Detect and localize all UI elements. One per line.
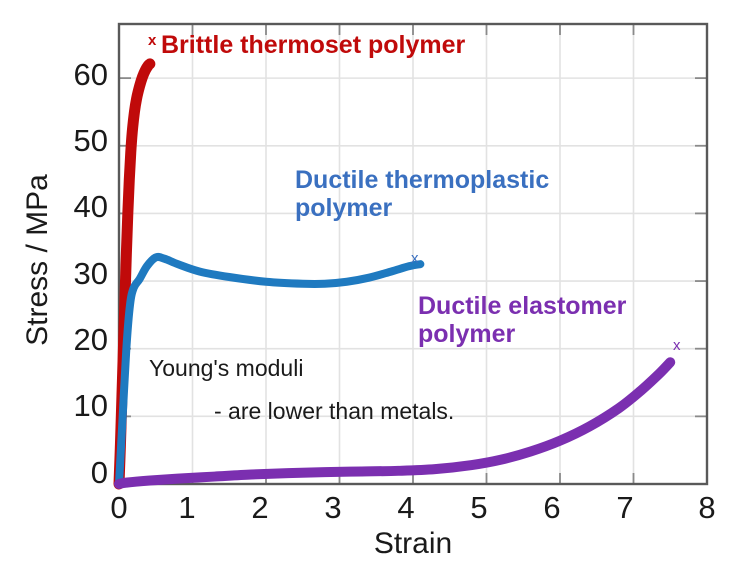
y-tick-label-40: 40 — [46, 191, 108, 222]
series-label-thermoplastic: Ductile thermoplastic polymer — [295, 166, 549, 223]
x-axis-title: Strain — [119, 527, 707, 561]
endpoint-marker-elastomer: x — [673, 338, 681, 353]
x-tick-label-1: 1 — [167, 492, 207, 523]
series-label-thermoset: Brittle thermoset polymer — [161, 31, 465, 59]
plot-svg — [0, 0, 753, 571]
series-label-elastomer: Ductile elastomer polymer — [418, 292, 626, 349]
x-tick-label-3: 3 — [313, 492, 353, 523]
y-tick-label-60: 60 — [46, 59, 108, 90]
y-axis-title: Stress / MPa — [21, 130, 55, 390]
endpoint-marker-thermoset: x — [148, 33, 156, 48]
x-tick-label-2: 2 — [240, 492, 280, 523]
x-tick-label-7: 7 — [605, 492, 645, 523]
x-tick-label-4: 4 — [386, 492, 426, 523]
y-tick-label-0: 0 — [46, 457, 108, 488]
x-tick-label-0: 0 — [99, 492, 139, 523]
x-tick-label-6: 6 — [532, 492, 572, 523]
y-tick-label-20: 20 — [46, 324, 108, 355]
x-tick-label-8: 8 — [687, 492, 727, 523]
note-lower-than-metals: - are lower than metals. — [214, 398, 454, 425]
note-youngs-moduli: Young's moduli — [149, 355, 303, 382]
endpoint-marker-thermoplastic: x — [411, 251, 419, 266]
x-tick-label-5: 5 — [459, 492, 499, 523]
y-tick-label-30: 30 — [46, 258, 108, 289]
y-tick-label-10: 10 — [46, 390, 108, 421]
y-tick-label-50: 50 — [46, 125, 108, 156]
stress-strain-chart: 60 50 40 30 20 10 0 0 1 2 3 4 5 6 7 8 St… — [0, 0, 753, 571]
